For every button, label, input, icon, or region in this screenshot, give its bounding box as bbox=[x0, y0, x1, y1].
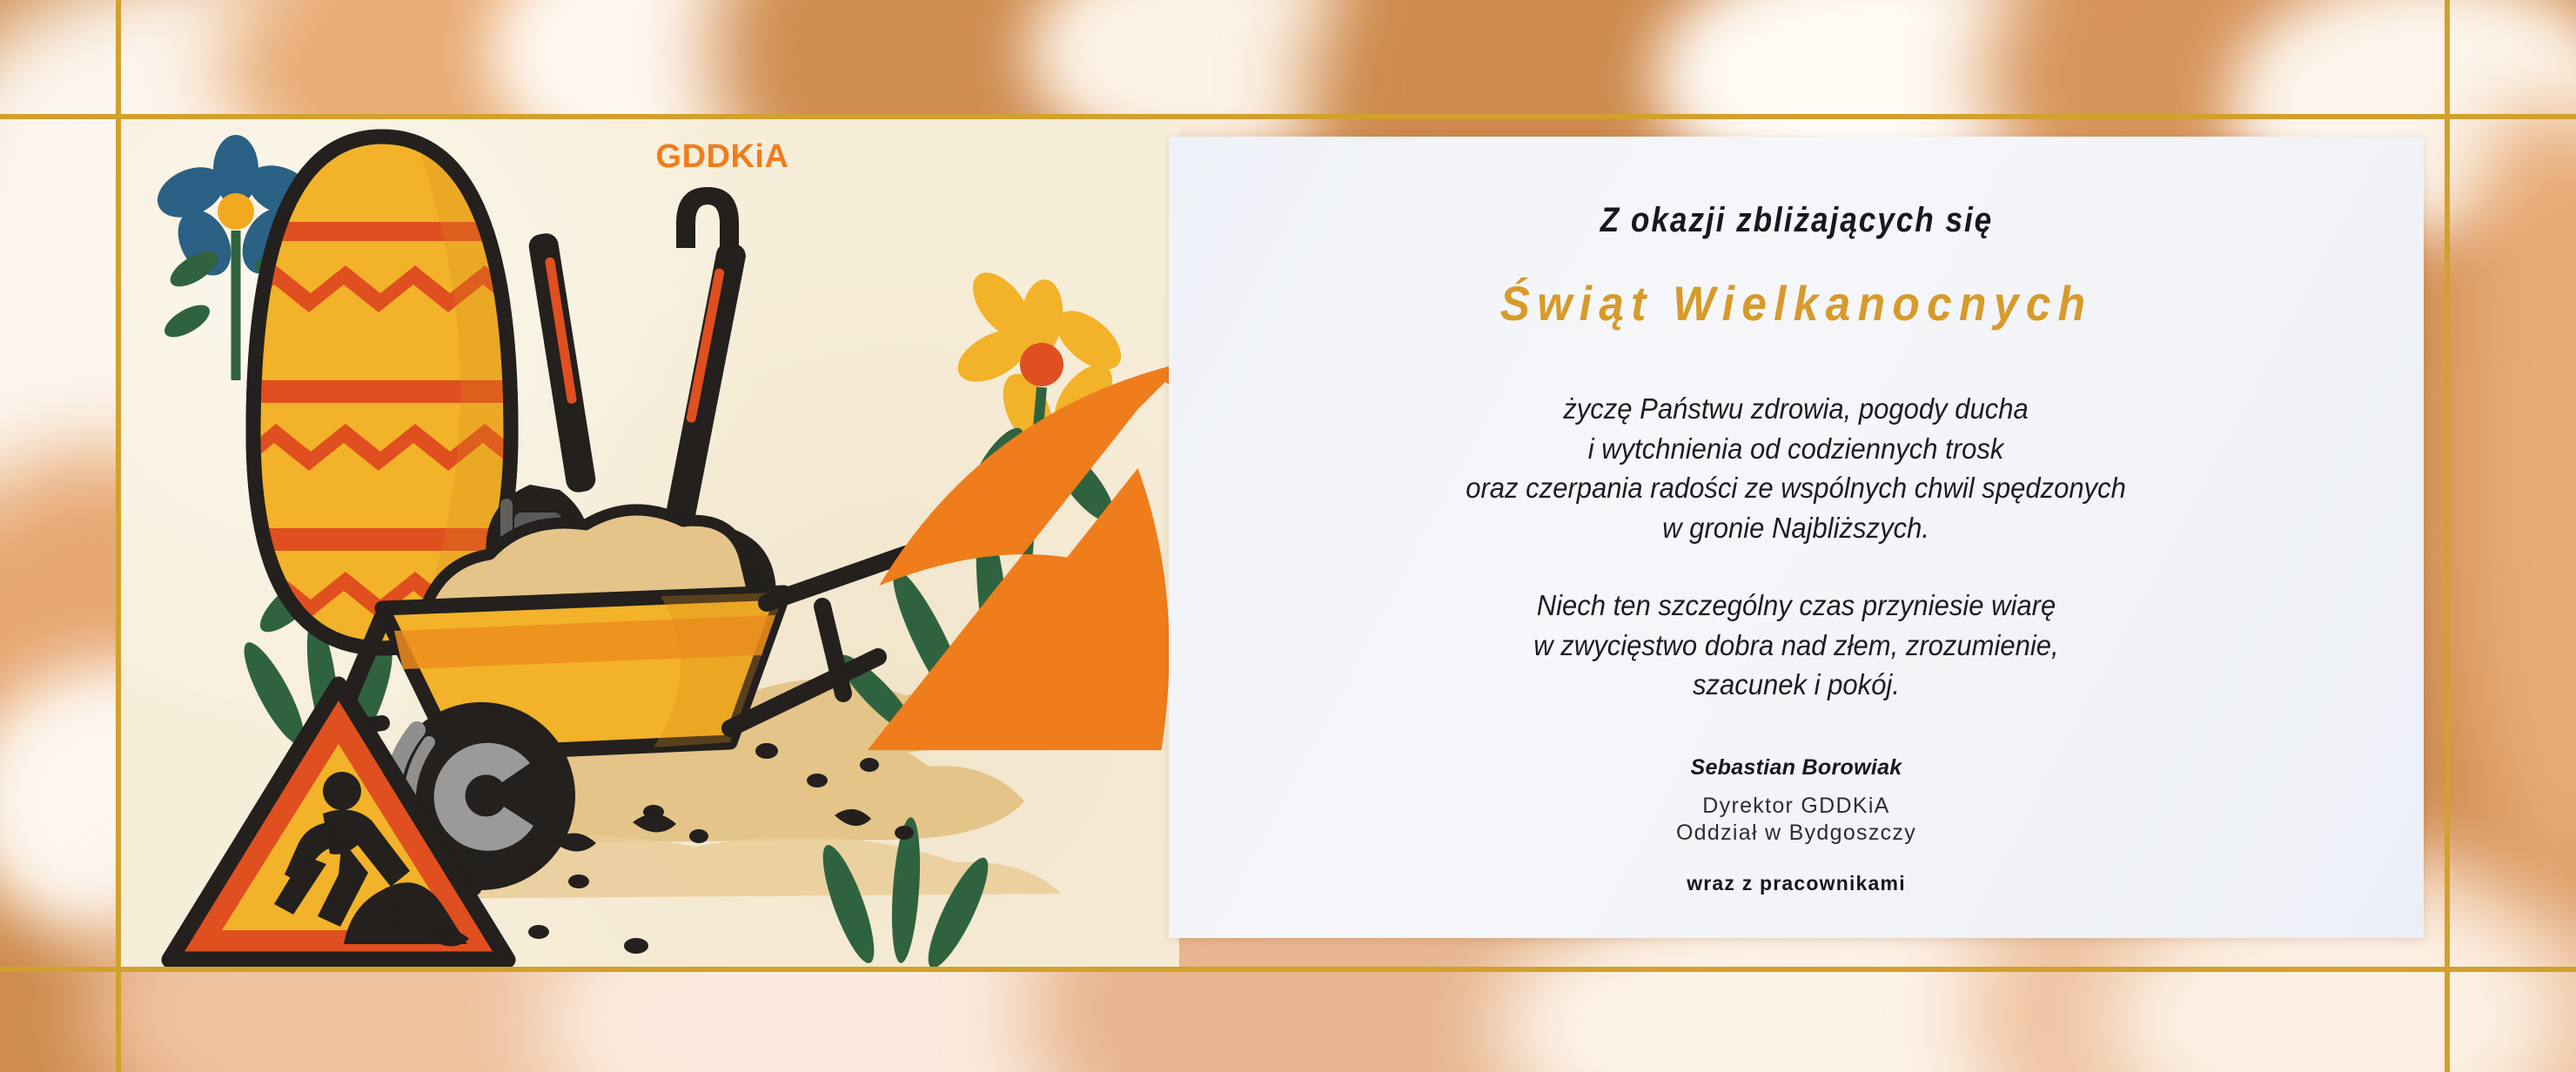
banner-canvas: GDDKiA Z okazji zbliżających się Świąt W… bbox=[0, 0, 2576, 1072]
signature-role: Dyrektor GDDKiA Oddział w Bydgoszczy bbox=[1676, 793, 1916, 848]
easter-roadworks-illustration: GDDKiA bbox=[121, 119, 1179, 967]
greeting-card: Z okazji zbliżających się Świąt Wielkano… bbox=[1169, 137, 2424, 938]
paragraph-2-line: w zwycięstwo dobra nad złem, zrozumienie… bbox=[1533, 626, 2058, 666]
frame-line-right bbox=[2445, 0, 2450, 1072]
signature-role-line: Oddział w Bydgoszczy bbox=[1676, 820, 1916, 848]
paragraph-1-line: oraz czerpania radości ze wspólnych chwi… bbox=[1466, 468, 2127, 508]
gddkia-logo: GDDKiA bbox=[644, 138, 801, 253]
signature-name: Sebastian Borowiak bbox=[1691, 755, 1902, 781]
gddkia-eagle-icon bbox=[644, 138, 1179, 967]
greeting-line-2: Świąt Wielkanocnych bbox=[1500, 275, 2093, 332]
paragraph-2-line: szacunek i pokój. bbox=[1533, 665, 2058, 705]
greeting-line-1: Z okazji zbliżających się bbox=[1600, 201, 1992, 240]
paragraph-1-line: w gronie Najbliższych. bbox=[1466, 508, 2127, 548]
paragraph-1-line: i wytchnienia od codziennych trosk bbox=[1466, 429, 2127, 469]
greeting-paragraph-1: życzę Państwu zdrowia, pogody ducha i wy… bbox=[1466, 389, 2127, 547]
paragraph-2-line: Niech ten szczególny czas przyniesie wia… bbox=[1533, 586, 2058, 626]
paragraph-1-line: życzę Państwu zdrowia, pogody ducha bbox=[1466, 389, 2127, 429]
frame-line-bottom bbox=[0, 967, 2576, 972]
signature-with-employees: wraz z pracownikami bbox=[1687, 872, 1906, 895]
signature-role-line: Dyrektor GDDKiA bbox=[1676, 793, 1916, 821]
greeting-paragraph-2: Niech ten szczególny czas przyniesie wia… bbox=[1533, 586, 2058, 705]
